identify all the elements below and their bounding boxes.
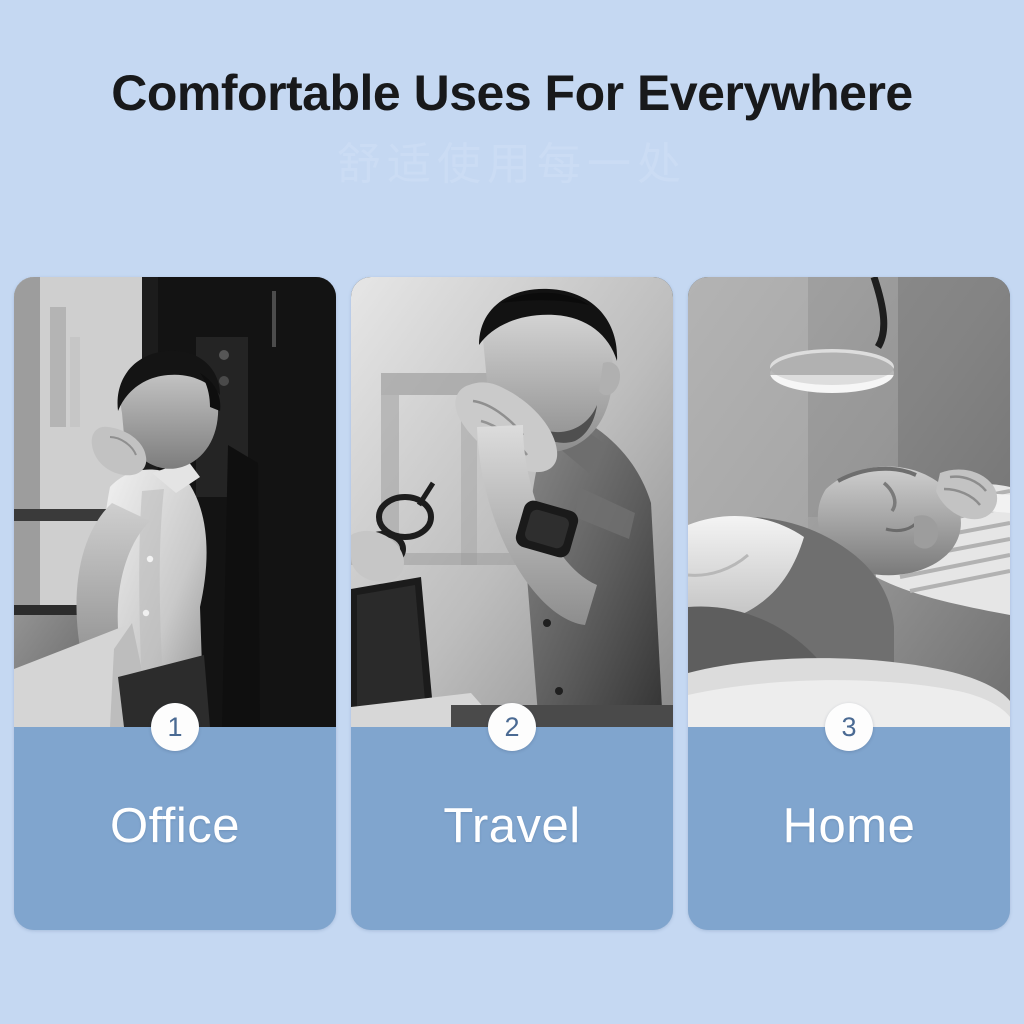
card-label-travel: Travel bbox=[443, 798, 580, 854]
card-badge-2: 2 bbox=[488, 703, 536, 751]
use-case-card-travel[interactable]: 2 Travel bbox=[351, 277, 673, 930]
card-label-office: Office bbox=[110, 798, 240, 854]
card-footer-travel: Travel bbox=[351, 727, 673, 930]
page-title: Comfortable Uses For Everywhere bbox=[0, 66, 1024, 121]
card-badge-3: 3 bbox=[825, 703, 873, 751]
card-footer-office: Office bbox=[14, 727, 336, 930]
use-case-cards-row: 1 Office bbox=[14, 277, 1010, 930]
card-photo-home bbox=[688, 277, 1010, 727]
card-label-home: Home bbox=[783, 798, 916, 854]
use-case-card-home[interactable]: 3 Home bbox=[688, 277, 1010, 930]
background-watermark: 舒适使用每一处 bbox=[0, 128, 1024, 192]
card-footer-home: Home bbox=[688, 727, 1010, 930]
card-photo-office bbox=[14, 277, 336, 727]
card-photo-travel bbox=[351, 277, 673, 727]
use-case-card-office[interactable]: 1 Office bbox=[14, 277, 336, 930]
card-badge-1: 1 bbox=[151, 703, 199, 751]
